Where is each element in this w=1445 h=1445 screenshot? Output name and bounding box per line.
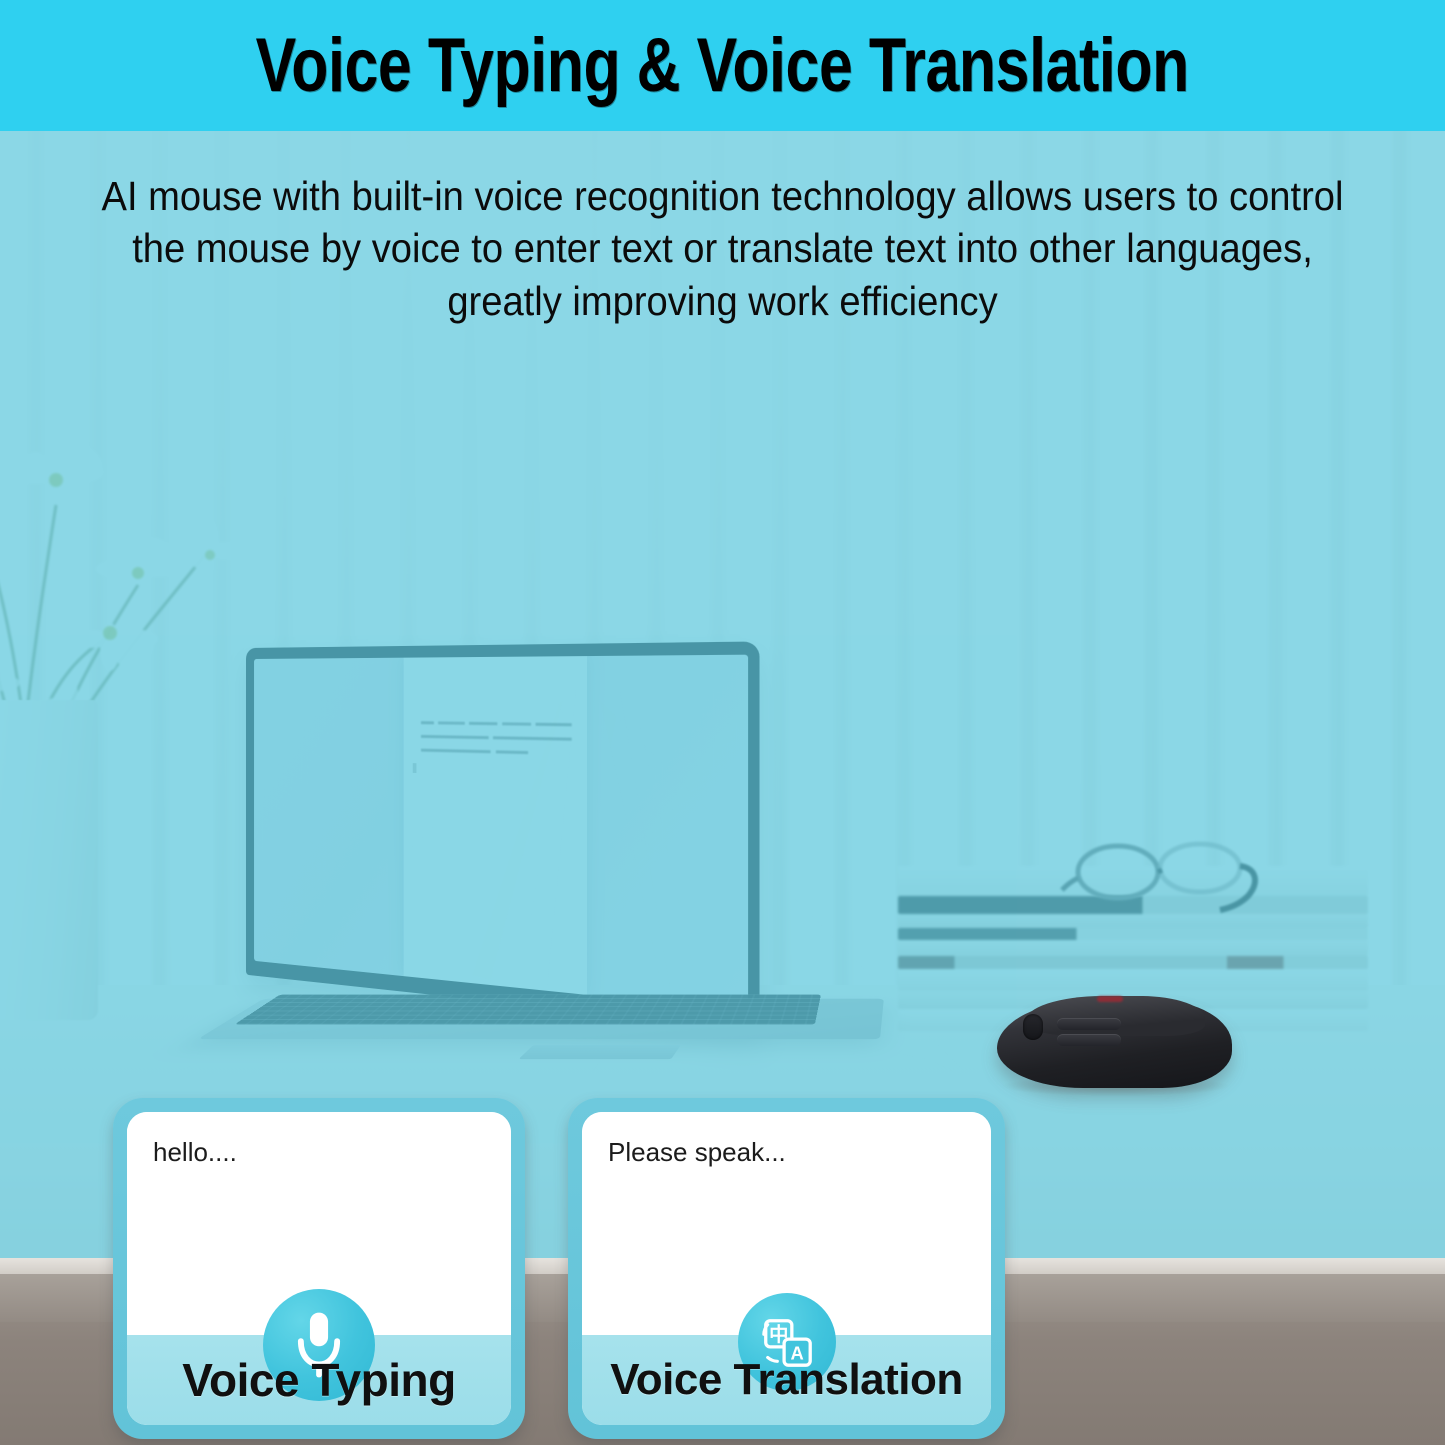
mouse-top-shell [1025, 996, 1205, 1036]
voice-translation-label: Voice Translation [610, 1355, 963, 1405]
mouse-scroll-wheel [1023, 1014, 1043, 1040]
page-title: Voice Typing & Voice Translation [256, 28, 1189, 104]
voice-translation-card[interactable]: Please speak... Voice Translation 中 A [568, 1098, 1005, 1439]
ai-mouse [997, 984, 1232, 1092]
description-text: AI mouse with built-in voice recognition… [78, 170, 1366, 327]
voice-typing-card[interactable]: hello.... Voice Typing [113, 1098, 525, 1439]
voice-typing-transcript: hello.... [153, 1138, 485, 1167]
mouse-side-button [1057, 1034, 1121, 1046]
voice-translation-card-inner: Please speak... Voice Translation 中 A [582, 1112, 991, 1425]
mouse-side-button [1057, 1018, 1121, 1030]
voice-typing-label: Voice Typing [182, 1353, 455, 1407]
banner-header: Voice Typing & Voice Translation [0, 0, 1445, 131]
voice-translation-transcript: Please speak... [608, 1138, 965, 1167]
mouse-indicator-light [1097, 996, 1123, 1002]
product-feature-banner: Voice Typing & Voice Translation AI mous… [0, 0, 1445, 1445]
voice-typing-card-inner: hello.... Voice Typing [127, 1112, 511, 1425]
